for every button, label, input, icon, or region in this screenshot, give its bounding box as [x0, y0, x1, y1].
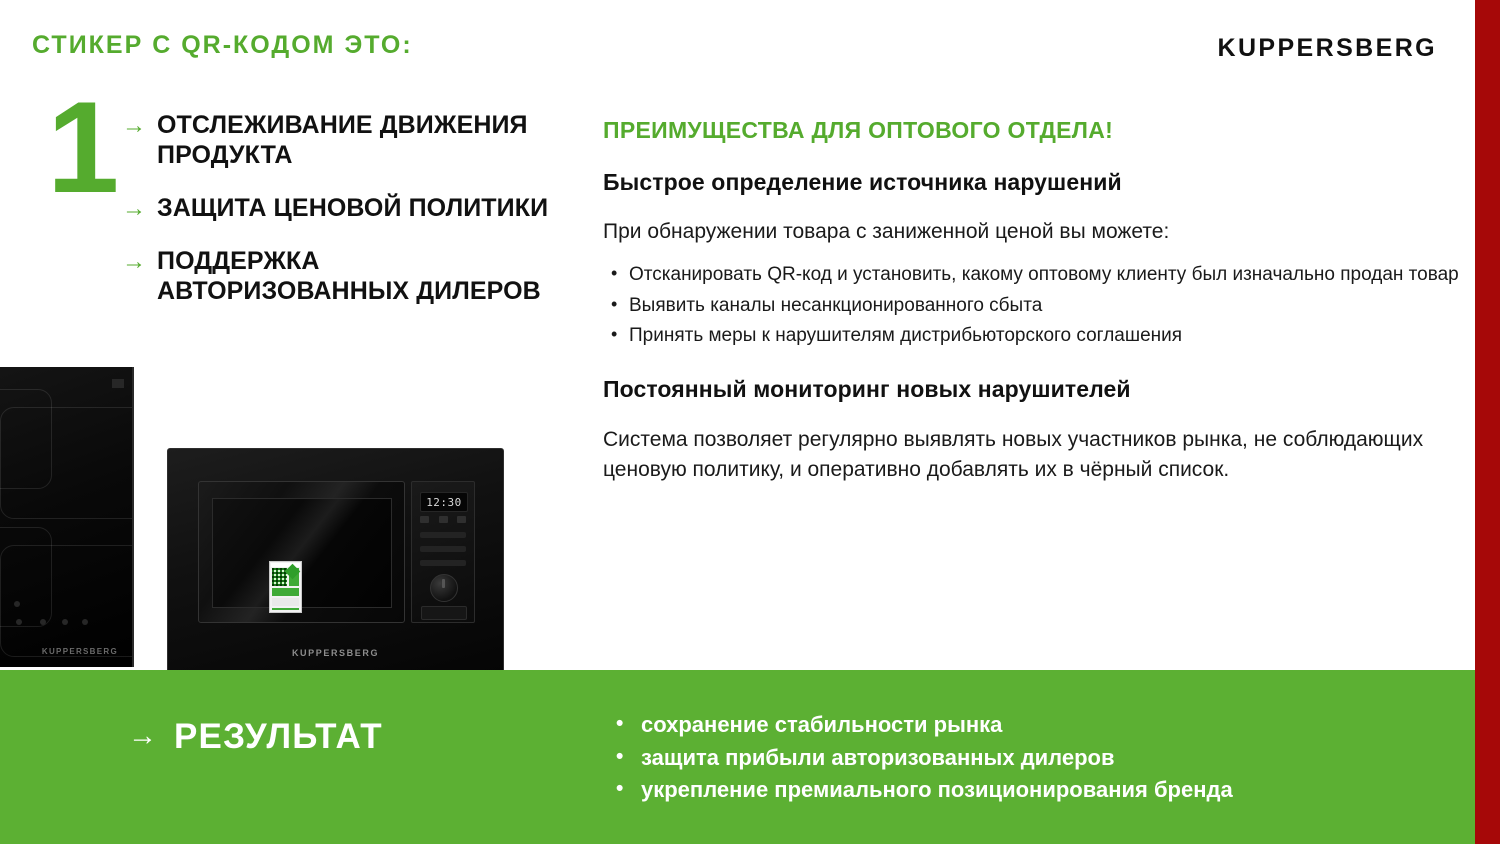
- brand-logo: KUPPERSBERG: [1218, 36, 1438, 61]
- result-footer-band: → РЕЗУЛЬТАТ сохранение стабильности рынк…: [0, 670, 1475, 844]
- cooktop-logo-mark: [112, 379, 124, 388]
- oven-control-panel: 12:30: [411, 481, 475, 623]
- section-kicker: ПРЕИМУЩЕСТВА ДЛЯ ОПТОВОГО ОТДЕЛА!: [603, 118, 1463, 143]
- slide: СТИКЕР С QR-КОДОМ ЭТО: KUPPERSBERG 1 → О…: [0, 0, 1500, 844]
- intro-paragraph: При обнаружении товара с заниженной цено…: [603, 218, 1463, 246]
- oven-brand-label: KUPPERSBERG: [168, 648, 503, 658]
- accent-stripe: [1475, 0, 1500, 844]
- cooktop-touch-key: [40, 619, 46, 625]
- microwave-mode-icon: [420, 516, 429, 523]
- sticker-band: [272, 588, 299, 596]
- list-item: Отсканировать QR-код и установить, каком…: [629, 262, 1463, 287]
- cooktop-touch-key: [16, 619, 22, 625]
- cooktop-control-strip: [0, 601, 132, 631]
- sticker-band: [272, 608, 299, 610]
- section-heading-2: Постоянный мониторинг новых нарушителей: [603, 376, 1463, 402]
- oven-icon-buttons: [420, 516, 466, 525]
- list-item: Принять меры к нарушителям дистрибьюторс…: [629, 323, 1463, 348]
- oven-open-button: [421, 606, 467, 620]
- section-heading-1: Быстрое определение источника нарушений: [603, 169, 1463, 195]
- oven-clock-display: 12:30: [420, 492, 468, 512]
- arrow-right-icon: →: [122, 110, 146, 140]
- benefit-list: → ОТСЛЕЖИВАНИЕ ДВИЖЕНИЯ ПРОДУКТА → ЗАЩИТ…: [122, 110, 552, 306]
- right-content-column: ПРЕИМУЩЕСТВА ДЛЯ ОПТОВОГО ОТДЕЛА! Быстро…: [603, 118, 1463, 501]
- list-item: сохранение стабильности рынка: [638, 709, 1233, 742]
- cooktop-product-image: KUPPERSBERG: [0, 367, 134, 667]
- body-paragraph: Система позволяет регулярно выявлять нов…: [603, 425, 1453, 485]
- cooktop-indicator: [14, 601, 20, 607]
- list-item-label: ПОДДЕРЖКА АВТОРИЗОВАННЫХ ДИЛЕРОВ: [157, 246, 552, 306]
- action-bullet-list: Отсканировать QR-код и установить, каком…: [603, 262, 1463, 348]
- oven-button-bar: [420, 532, 466, 538]
- list-item: → ЗАЩИТА ЦЕНОВОЙ ПОЛИТИКИ: [122, 193, 552, 223]
- grill-mode-icon: [439, 516, 448, 523]
- step-number: 1: [47, 92, 117, 202]
- result-title: РЕЗУЛЬТАТ: [174, 719, 383, 754]
- arrow-right-icon: →: [122, 246, 146, 276]
- arrow-right-icon: →: [122, 193, 146, 223]
- qr-sticker: [269, 561, 302, 613]
- result-title-group: → РЕЗУЛЬТАТ: [128, 719, 383, 754]
- sticker-band: [272, 598, 299, 606]
- oven-button-bar: [420, 560, 466, 566]
- list-item: → ПОДДЕРЖКА АВТОРИЗОВАННЫХ ДИЛЕРОВ: [122, 246, 552, 306]
- oven-door: [198, 481, 405, 623]
- list-item-label: ЗАЩИТА ЦЕНОВОЙ ПОЛИТИКИ: [157, 193, 548, 223]
- cooktop-zone: [0, 407, 134, 519]
- result-bullet-list: сохранение стабильности рынка защита при…: [638, 709, 1233, 807]
- oven-dial-knob: [430, 574, 458, 602]
- list-item: укрепление премиального позиционирования…: [638, 774, 1233, 807]
- list-item-label: ОТСЛЕЖИВАНИЕ ДВИЖЕНИЯ ПРОДУКТА: [157, 110, 552, 170]
- cooktop-touch-key: [82, 619, 88, 625]
- cooktop-brand-label: KUPPERSBERG: [42, 647, 118, 656]
- arrow-right-icon: →: [128, 722, 157, 751]
- oven-button-bar: [420, 546, 466, 552]
- list-item: → ОТСЛЕЖИВАНИЕ ДВИЖЕНИЯ ПРОДУКТА: [122, 110, 552, 170]
- clock-mode-icon: [457, 516, 466, 523]
- page-title: СТИКЕР С QR-КОДОМ ЭТО:: [32, 33, 413, 58]
- list-item: защита прибыли авторизованных дилеров: [638, 742, 1233, 775]
- oven-window: [212, 498, 392, 608]
- microwave-product-image: 12:30 KUPPERSBERG: [167, 448, 504, 673]
- list-item: Выявить каналы несанкционированного сбыт…: [629, 293, 1463, 318]
- cooktop-touch-key: [62, 619, 68, 625]
